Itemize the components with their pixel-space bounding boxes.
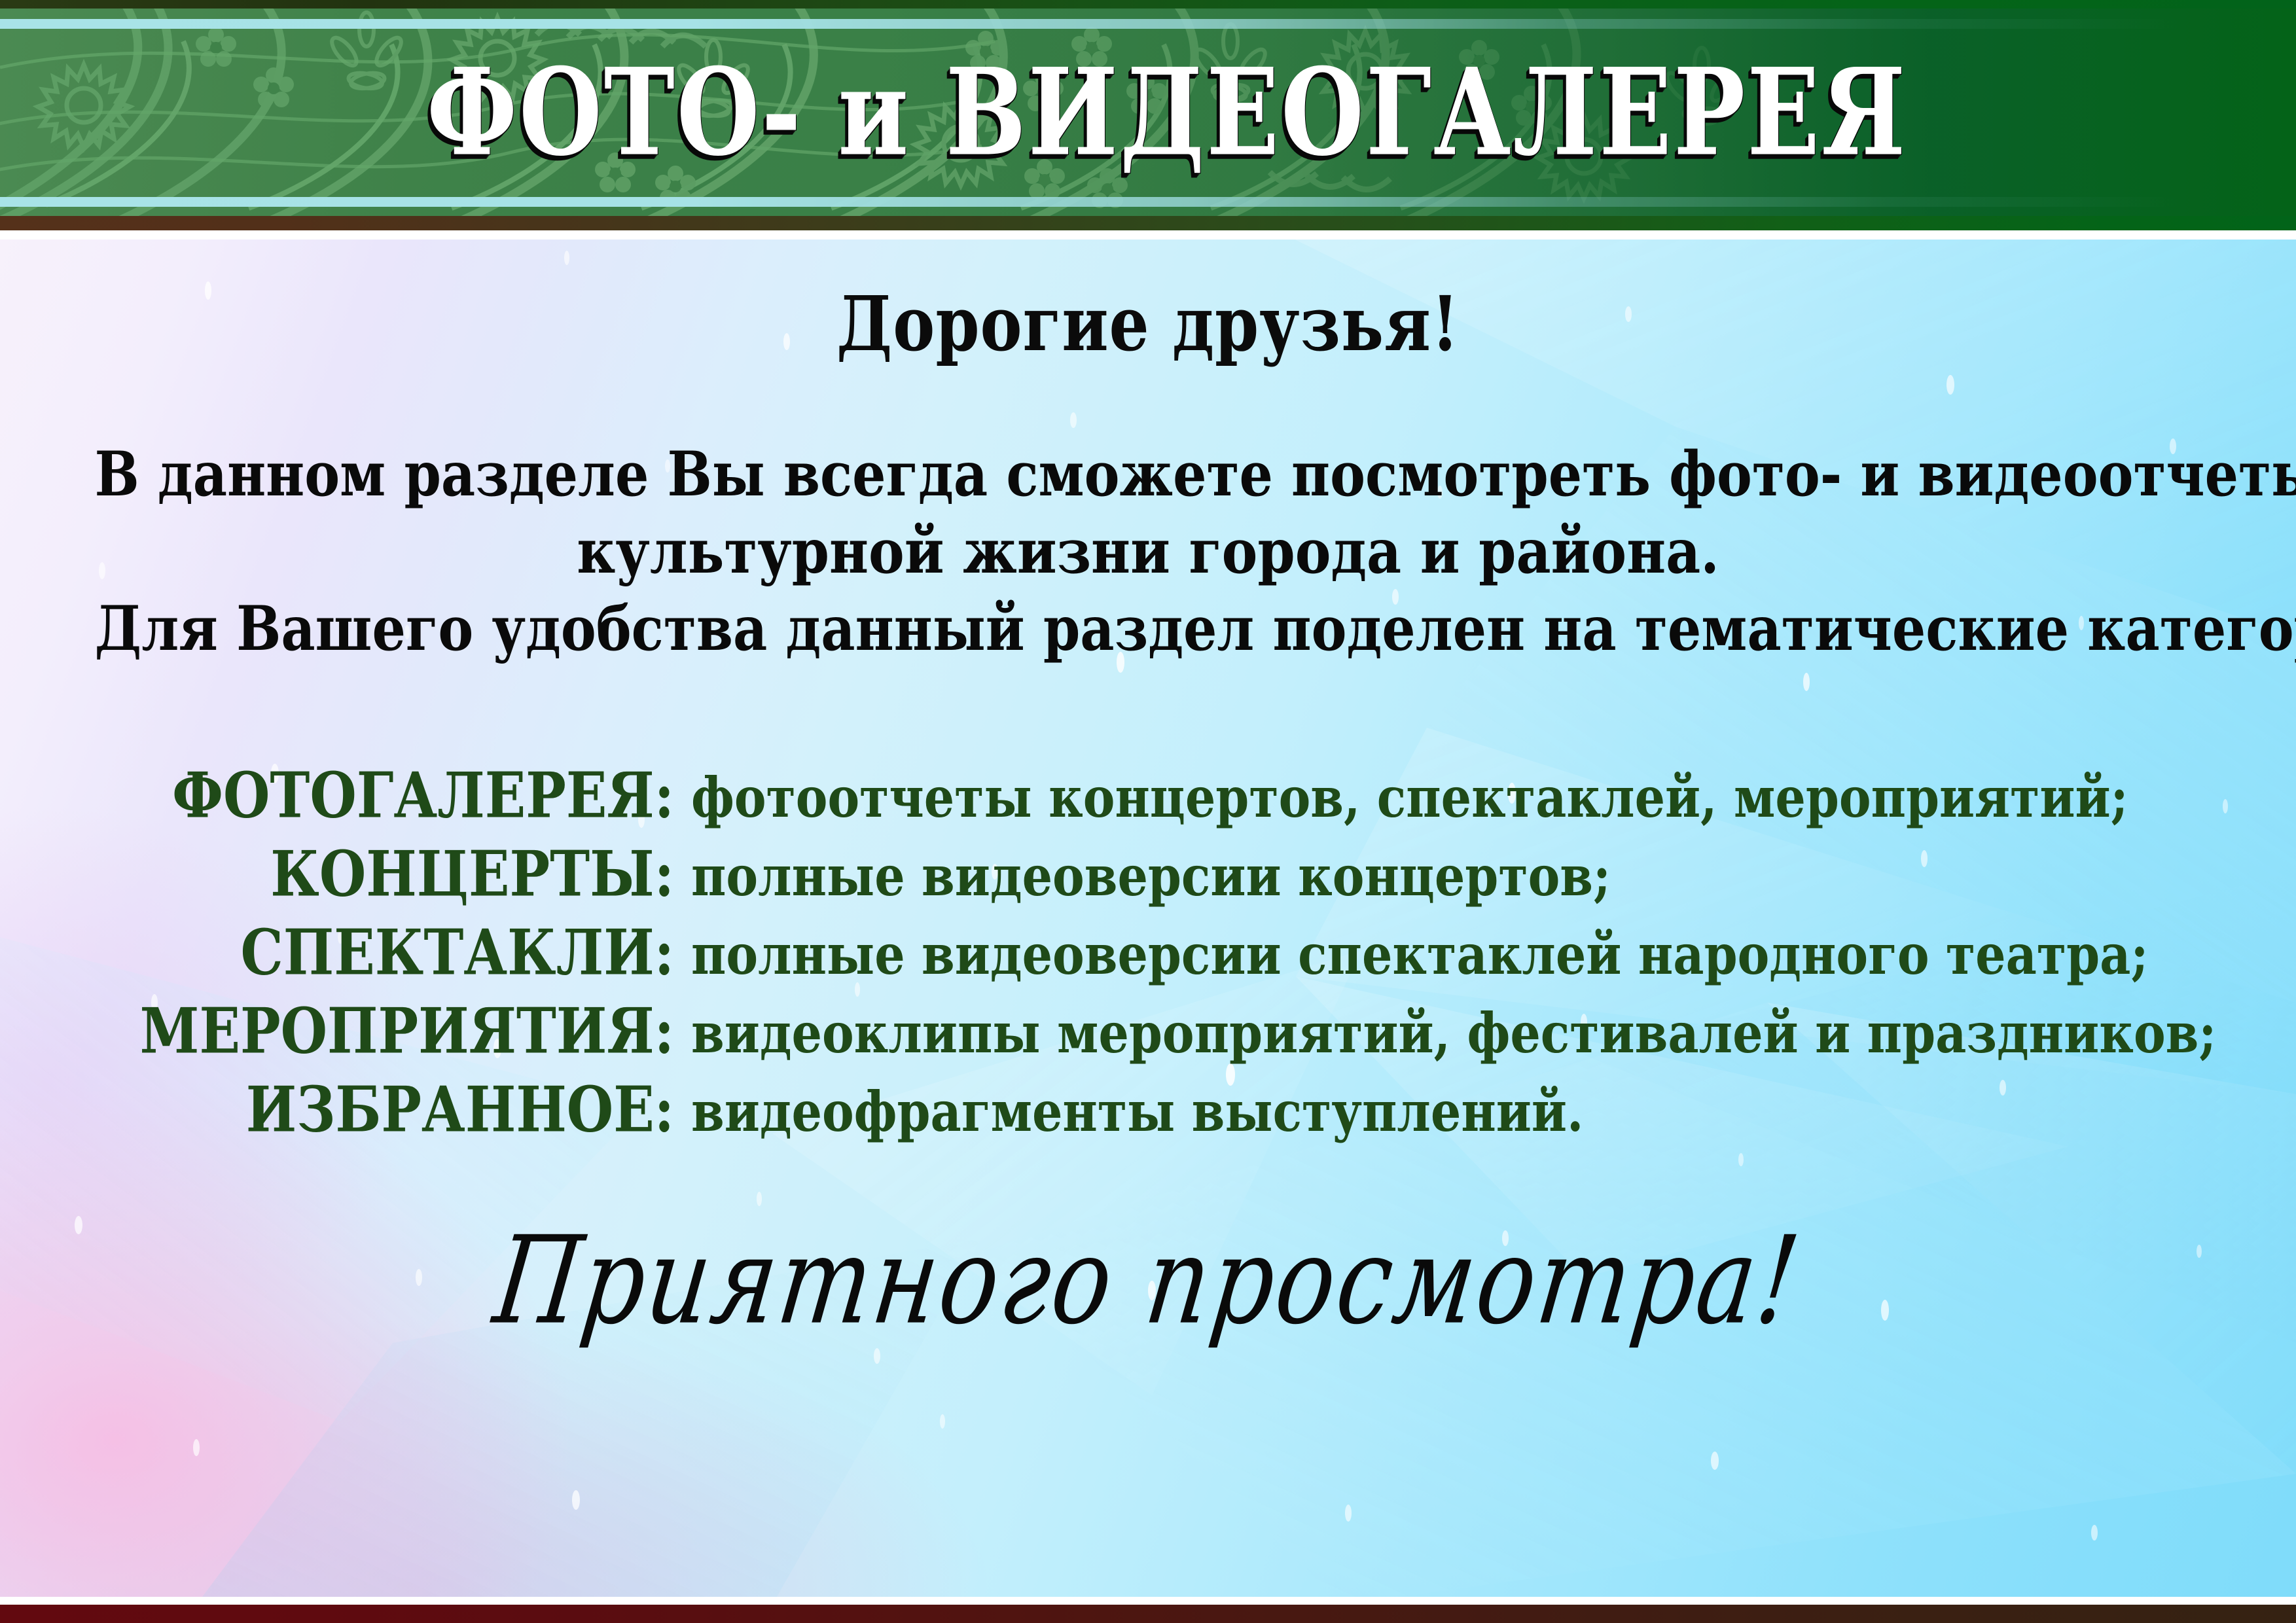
- closing-wrap: Приятного просмотра!: [0, 1228, 2296, 1334]
- category-label-concerts: КОНЦЕРТЫ:: [0, 829, 674, 919]
- main-content: Дорогие друзья! В данном разделе Вы всег…: [0, 240, 2296, 1605]
- category-label-plays: СПЕКТАКЛИ:: [0, 907, 674, 998]
- category-row-concerts[interactable]: КОНЦЕРТЫ: полные видеоверсии концертов;: [0, 835, 2296, 914]
- intro-line-3: Для Вашего удобства данный раздел поделе…: [95, 585, 2202, 673]
- category-description-events: видеоклипы мероприятий, фестивалей и пра…: [674, 988, 2216, 1079]
- category-row-photogallery[interactable]: ФОТОГАЛЕРЕЯ: фотоотчеты концертов, спект…: [0, 757, 2296, 835]
- header-banner: ФОТО- и ВИДЕОГАЛЕРЕЯ: [0, 0, 2296, 230]
- banner-edge-bottom: [0, 216, 2296, 230]
- greeting-heading: Дорогие друзья!: [0, 287, 2296, 362]
- banner-white-gap: [0, 230, 2296, 240]
- category-list: ФОТОГАЛЕРЕЯ: фотоотчеты концертов, спект…: [0, 757, 2296, 1149]
- intro-line-1: В данном разделе Вы всегда сможете посмо…: [95, 431, 2202, 519]
- category-description-plays: полные видеоверсии спектаклей народного …: [674, 909, 2148, 1000]
- closing-message: Приятного просмотра!: [462, 1215, 1835, 1347]
- intro-paragraph: В данном разделе Вы всегда сможете посмо…: [79, 436, 2217, 668]
- slide-root: ФОТО- и ВИДЕОГАЛЕРЕЯ Дорогие друзья! В д…: [0, 0, 2296, 1623]
- category-label-events: МЕРОПРИЯТИЯ:: [0, 986, 674, 1077]
- page-title: ФОТО- и ВИДЕОГАЛЕРЕЯ: [389, 52, 1907, 172]
- intro-line-2: культурной жизни города и района.: [79, 508, 2217, 596]
- category-description-concerts: полные видеоверсии концертов;: [674, 830, 1611, 921]
- category-label-photogallery: ФОТОГАЛЕРЕЯ:: [0, 750, 674, 841]
- category-label-favorites: ИЗБРАННОЕ:: [0, 1064, 674, 1155]
- category-description-photogallery: фотоотчеты концертов, спектаклей, меропр…: [674, 752, 2128, 843]
- category-row-events[interactable]: МЕРОПРИЯТИЯ: видеоклипы мероприятий, фес…: [0, 992, 2296, 1071]
- category-description-favorites: видеофрагменты выступлений.: [674, 1066, 1583, 1157]
- footer-bar: [0, 1605, 2296, 1623]
- category-row-favorites[interactable]: ИЗБРАННОЕ: видеофрагменты выступлений.: [0, 1071, 2296, 1149]
- category-row-plays[interactable]: СПЕКТАКЛИ: полные видеоверсии спектаклей…: [0, 914, 2296, 992]
- banner-title-wrap: ФОТО- и ВИДЕОГАЛЕРЕЯ: [0, 9, 2296, 216]
- banner-edge-top: [0, 0, 2296, 9]
